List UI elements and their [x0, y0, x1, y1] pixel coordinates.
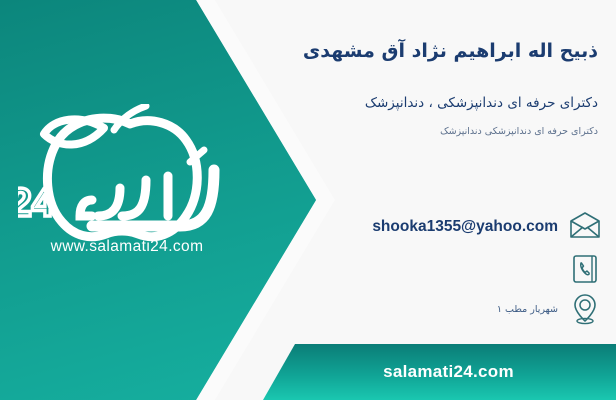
envelope-icon	[568, 210, 602, 244]
doctor-specialty: دکترای حرفه ای دندانپزشکی ، دندانپزشک	[118, 95, 598, 111]
logo-tagline: به راحتی یک لبخند	[28, 222, 224, 232]
svg-text:24: 24	[18, 181, 55, 225]
footer-website: salamati24.com	[365, 362, 514, 382]
doctor-name: ذبیح اله ابراهیم نژاد آق مشهدی	[118, 40, 598, 62]
contact-row-email[interactable]: shooka1355@yahoo.com	[372, 210, 602, 244]
contact-row-address[interactable]: شهریار مطب ۱	[497, 292, 602, 326]
address-value: شهریار مطب ۱	[497, 304, 558, 315]
phone-book-icon	[568, 252, 602, 286]
location-pin-icon	[568, 292, 602, 326]
doctor-specialty-sub: دکترای حرفه ای دندانپزشکی دندانپزشک	[118, 126, 598, 137]
contact-row-phone[interactable]	[558, 252, 602, 286]
business-card: 24 به راحتی یک لبخند www.salamati24.com …	[0, 0, 616, 400]
email-value: shooka1355@yahoo.com	[372, 218, 558, 236]
logo-url: www.salamati24.com	[18, 238, 236, 256]
footer-bar[interactable]: salamati24.com	[263, 344, 616, 400]
